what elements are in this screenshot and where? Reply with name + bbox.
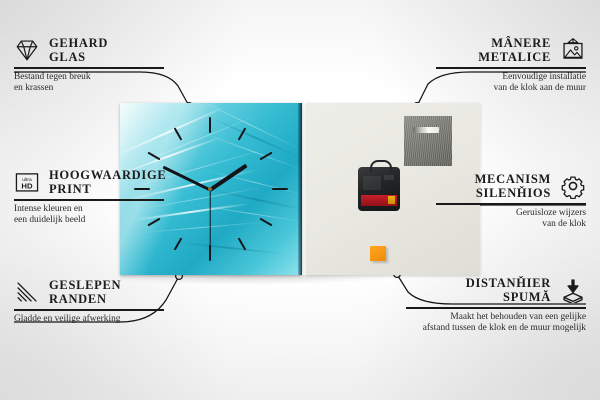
callout-rule [14,309,164,311]
hanger-slot [413,127,439,133]
aa-battery [361,195,397,206]
callout-subtitle-line1: Geruisloze wijzers [436,208,586,220]
callout-title-line2: RANDEN [49,292,121,306]
clock-tick-2 [259,152,272,161]
spacer-arrow-icon [560,277,586,303]
callout-subtitle-line2: een duidelijk beeld [14,215,164,227]
callout-subtitle-line2: van de klok aan de muur [436,83,586,95]
callout-rule [436,67,586,69]
callout-title-line1: GEHARD [49,36,108,50]
callout-rule [406,307,586,309]
callout-subtitle-line1: Intense kleuren en [14,204,164,216]
callout-rule [14,67,164,69]
product-photo [120,103,480,275]
callout-title-line2: GLAS [49,50,108,64]
callout-manere-metalice: MÂNERE METALICE Eenvoudige installatie v… [436,36,586,95]
callout-title-line2: SPUMĂ [406,290,551,304]
clock-second-hand [209,190,210,252]
callout-distantier-spuma: DISTANȞIER SPUMĂ Maakt het behouden van … [406,276,586,335]
diamond-icon [14,37,40,63]
clock-tick-12 [209,117,211,133]
callout-subtitle-line1: Maakt het behouden van een gelijke [406,312,586,324]
svg-text:HD: HD [21,182,33,191]
callout-title-line1: MÂNERE [478,36,551,50]
callout-mecanism-silentios: MECANISM SILENȞIOS Geruisloze wijzers va… [436,172,586,231]
metal-hanger-plate [404,116,452,166]
callout-title-line1: GESLEPEN [49,278,121,292]
callout-title-line1: HOOGWAARDIGE [49,168,166,182]
silent-clock-mechanism [358,167,400,211]
mechanism-button [384,175,394,180]
callout-gehard-glas: GEHARD GLAS Bestand tegen breuk en krass… [14,36,164,95]
callout-title-line2: SILENȞIOS [475,186,551,200]
infographic-canvas: GEHARD GLAS Bestand tegen breuk en krass… [0,0,600,400]
callout-subtitle-line1: Eenvoudige installatie [436,72,586,84]
ultra-hd-icon: ultra HD [14,169,40,195]
gear-icon [560,173,586,199]
callout-title-line2: METALICE [478,50,551,64]
mechanism-hook [370,160,392,172]
callout-subtitle-line2: en krassen [14,83,164,95]
callout-subtitle-line2: afstand tussen de klok en de muur mogeli… [406,323,586,335]
callout-title-line2: PRINT [49,182,166,196]
beveled-edges-icon [14,279,40,305]
clock-tick-3 [272,188,288,190]
callout-subtitle-line1: Bestand tegen breuk [14,72,164,84]
callout-subtitle-line1: Gladde en veilige afwerking [14,314,164,326]
glass-edge [298,103,302,275]
callout-title-line1: MECANISM [475,172,551,186]
callout-title-line1: DISTANȞIER [406,276,551,290]
orange-foam-spacer [370,246,386,261]
callout-hoogwaardige-print: ultra HD HOOGWAARDIGE PRINT Intense kleu… [14,168,164,227]
mechanism-label [363,176,381,190]
clock-center-cap [208,187,212,191]
picture-frame-icon [560,37,586,63]
callout-subtitle-line2: van de klok [436,219,586,231]
callout-geslepen-randen: GESLEPEN RANDEN Gladde en veilige afwerk… [14,278,164,325]
callout-rule [436,203,586,205]
callout-rule [14,199,164,201]
